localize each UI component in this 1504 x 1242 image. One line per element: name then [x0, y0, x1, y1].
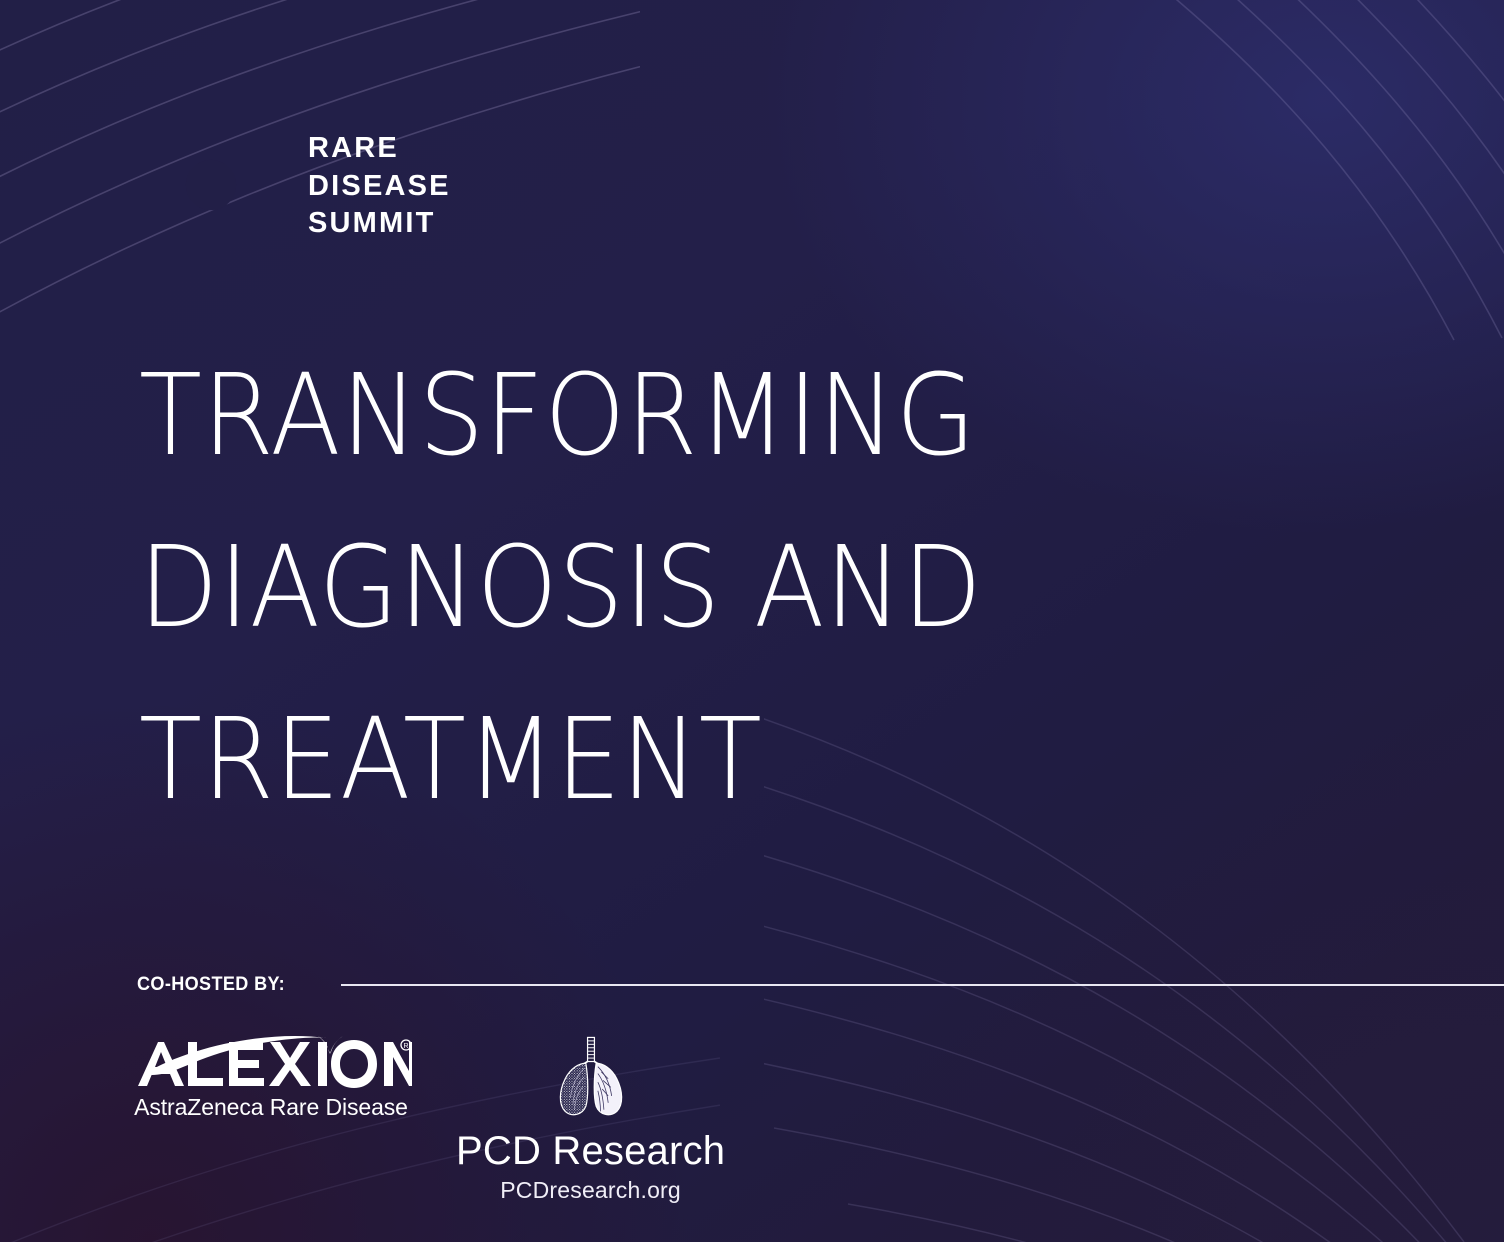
wordmark-line-disease: DISEASE — [308, 169, 451, 204]
title-line-3: TREATMENT — [139, 674, 1114, 846]
alexion-tagline: AstraZeneca Rare Disease — [130, 1094, 412, 1121]
horizontal-rule — [341, 984, 1504, 986]
summit-wordmark: RARE DISEASE SUMMIT — [308, 129, 451, 241]
wordmark-line-summit: SUMMIT — [308, 206, 451, 241]
pcd-title: PCD Research — [456, 1130, 725, 1172]
presentation-slide: RARE DISEASE SUMMIT TRANSFORMING DIAGNOS… — [0, 0, 1504, 1242]
pcd-research-logo[interactable]: PCD Research PCDresearch.org — [456, 1030, 725, 1204]
partner-logos: R AstraZeneca Rare Disease — [130, 1030, 725, 1204]
co-hosted-label: CO-HOSTED BY: — [137, 974, 285, 996]
alexion-logo[interactable]: R AstraZeneca Rare Disease — [130, 1030, 412, 1121]
co-hosted-header: CO-HOSTED BY: — [137, 974, 1504, 996]
pcd-text-block: PCD Research PCDresearch.org — [456, 1130, 725, 1204]
rare-disease-summit-sunburst-icon — [136, 110, 286, 260]
pcd-url: PCDresearch.org — [500, 1177, 681, 1204]
title-line-2: DIAGNOSIS AND — [139, 502, 1114, 674]
lungs-icon — [547, 1034, 635, 1120]
title-line-1: TRANSFORMING — [139, 330, 1114, 502]
summit-logo-lockup: RARE DISEASE SUMMIT — [136, 110, 451, 260]
wordmark-line-rare: RARE — [308, 131, 451, 166]
alexion-wordmark-icon: R — [130, 1030, 412, 1088]
page-title: TRANSFORMING DIAGNOSIS AND TREATMENT — [139, 330, 1199, 846]
svg-text:R: R — [403, 1043, 408, 1050]
